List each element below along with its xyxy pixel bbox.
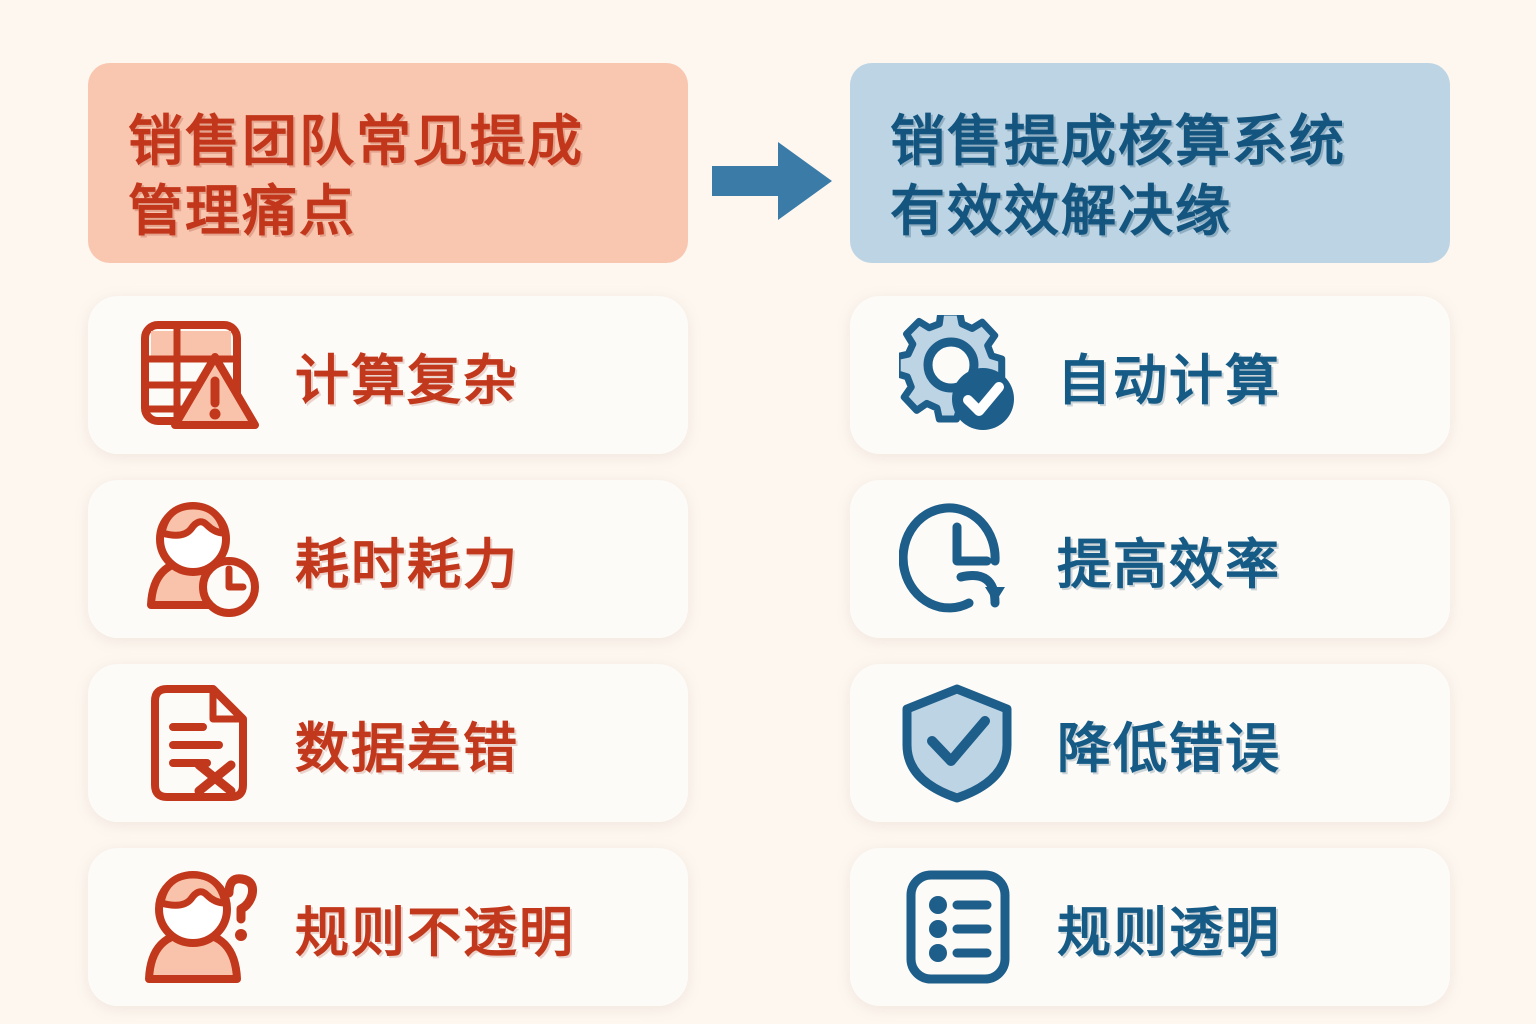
pain-header-line-1: 销售团队常见提成: [128, 106, 648, 176]
solution-item-label: 降低错误: [1057, 704, 1281, 783]
solution-item-card[interactable]: 降低错误: [850, 664, 1450, 822]
solution-item-label: 自动计算: [1057, 336, 1281, 415]
shield-check-icon: [895, 681, 1027, 805]
checklist-icon: [895, 865, 1027, 989]
solution-item-label: 规则透明: [1057, 888, 1281, 967]
document-error-icon: [133, 681, 265, 805]
pain-points-column: 销售团队常见提成 管理痛点 计算复杂: [88, 0, 688, 1024]
pain-item-label: 耗时耗力: [295, 520, 519, 599]
pain-item-card[interactable]: 规则不透明: [88, 848, 688, 1006]
pain-header-line-2: 管理痛点: [128, 176, 648, 246]
solution-item-card[interactable]: 提高效率: [850, 480, 1450, 638]
spreadsheet-warning-icon: [133, 313, 265, 437]
arrow-right-icon: [712, 140, 834, 222]
solution-item-card[interactable]: 自动计算: [850, 296, 1450, 454]
infographic-canvas: 销售团队常见提成 管理痛点 计算复杂: [0, 0, 1536, 1024]
pain-item-label: 数据差错: [295, 704, 519, 783]
gear-check-icon: [895, 313, 1027, 437]
pain-item-card[interactable]: 耗时耗力: [88, 480, 688, 638]
clock-arrow-icon: [895, 497, 1027, 621]
pain-item-card[interactable]: 计算复杂: [88, 296, 688, 454]
gain-header-line-1: 销售提成核算系统: [890, 106, 1410, 176]
solution-item-label: 提高效率: [1057, 520, 1281, 599]
solutions-column: 销售提成核算系统 有效效解决缘 自动计算: [850, 0, 1450, 1024]
pain-item-card[interactable]: 数据差错: [88, 664, 688, 822]
solutions-header: 销售提成核算系统 有效效解决缘: [850, 63, 1450, 263]
gain-header-line-2: 有效效解决缘: [890, 176, 1410, 246]
pain-item-label: 规则不透明: [295, 888, 575, 967]
pain-item-label: 计算复杂: [295, 336, 519, 415]
person-clock-icon: [133, 497, 265, 621]
solution-item-card[interactable]: 规则透明: [850, 848, 1450, 1006]
pain-points-header: 销售团队常见提成 管理痛点: [88, 63, 688, 263]
person-question-icon: [133, 865, 265, 989]
